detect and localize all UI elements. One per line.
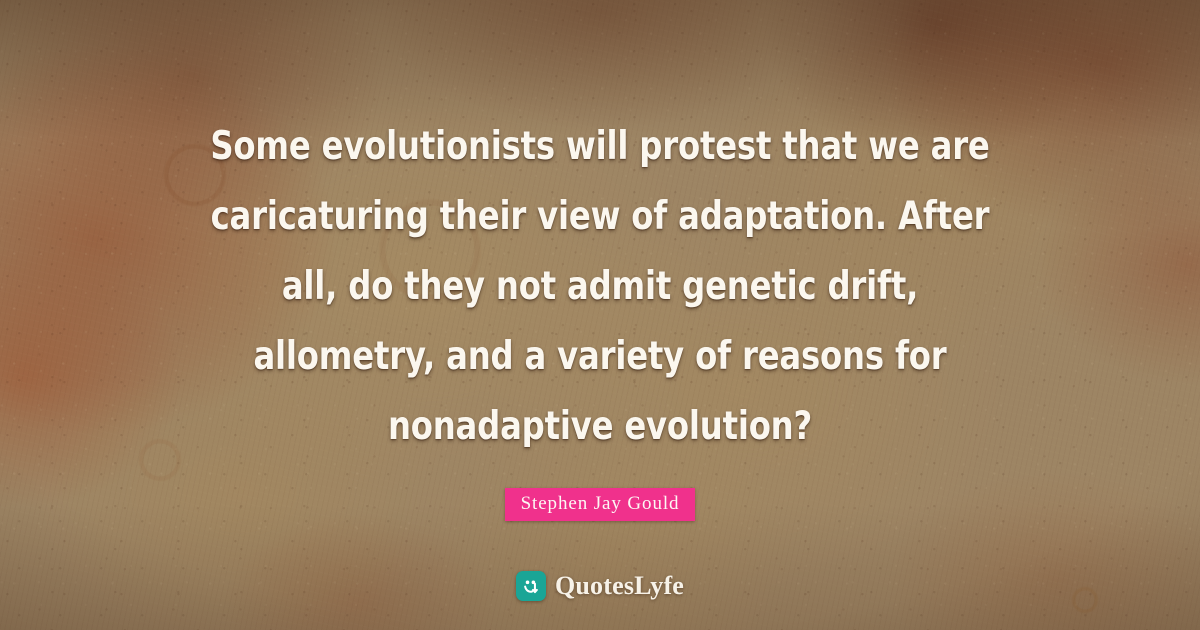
quote-line-2: caricaturing their view of adaptation. A… <box>168 182 1033 252</box>
brand-name-text: QuotesLyfe <box>555 571 684 601</box>
quote-line-3: all, do they not admit genetic drift, <box>168 252 1033 322</box>
quote-line-5: nonadaptive evolution? <box>168 392 1033 462</box>
quote-text: Some evolutionists will protest that we … <box>168 112 1033 462</box>
card-content: Some evolutionists will protest that we … <box>0 0 1200 630</box>
author-attribution: Stephen Jay Gould <box>505 488 696 521</box>
brand-logo[interactable]: QuotesLyfe <box>516 571 684 601</box>
quoteslyfe-smiley-quote-icon <box>516 571 546 601</box>
quote-line-1: Some evolutionists will protest that we … <box>168 112 1033 182</box>
quote-card: Some evolutionists will protest that we … <box>0 0 1200 630</box>
author-name-badge[interactable]: Stephen Jay Gould <box>505 488 696 521</box>
quote-line-4: allometry, and a variety of reasons for <box>168 322 1033 392</box>
